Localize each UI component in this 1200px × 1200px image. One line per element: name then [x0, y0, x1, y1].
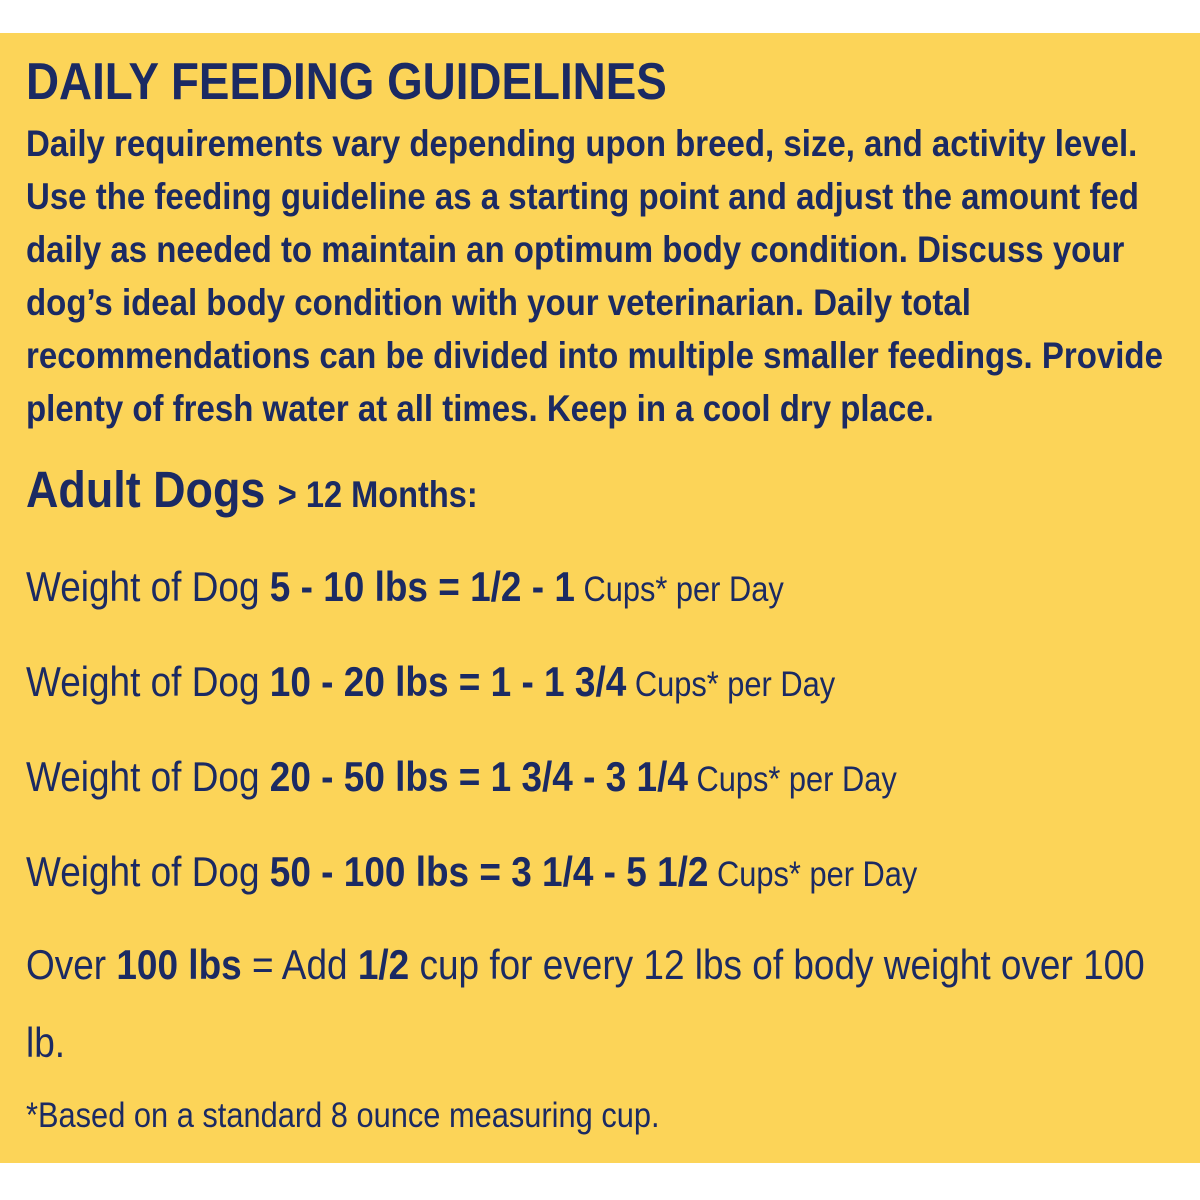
section-heading-qualifier: > 12 Months:	[278, 474, 478, 515]
feeding-row: Weight of Dog 20 - 50 lbs = 1 3/4 - 3 1/…	[26, 734, 1174, 829]
feeding-row-lead: Weight of Dog	[26, 848, 260, 895]
over-weight-rule-inner: Over 100 lbs = Add 1/2 cup for every 12 …	[26, 926, 1174, 1082]
feeding-row-amount: 5 - 10 lbs = 1/2 - 1	[270, 563, 575, 610]
feeding-row: Weight of Dog 5 - 10 lbs = 1/2 - 1 Cups*…	[26, 544, 1174, 639]
footnote-text: *Based on a standard 8 ounce measuring c…	[26, 1090, 1174, 1142]
section-heading-inner: Adult Dogs > 12 Months:	[26, 459, 1174, 534]
feeding-row-inner: Weight of Dog 50 - 100 lbs = 3 1/4 - 5 1…	[26, 829, 1174, 924]
feeding-row-lead: Weight of Dog	[26, 753, 260, 800]
feeding-guidelines-panel: DAILY FEEDING GUIDELINES Daily requireme…	[0, 33, 1200, 1163]
over-rule-prefix: Over	[26, 941, 116, 988]
feeding-row-inner: Weight of Dog 20 - 50 lbs = 1 3/4 - 3 1/…	[26, 734, 1174, 829]
feeding-row-unit: Cups* per Day	[696, 760, 896, 799]
feeding-row-lead: Weight of Dog	[26, 563, 260, 610]
feeding-row-inner: Weight of Dog 10 - 20 lbs = 1 - 1 3/4 Cu…	[26, 639, 1174, 734]
feeding-row: Weight of Dog 50 - 100 lbs = 3 1/4 - 5 1…	[26, 829, 1174, 924]
over-rule-middle: = Add	[242, 941, 358, 988]
section-heading: Adult Dogs > 12 Months:	[26, 459, 1174, 534]
feeding-row-unit: Cups* per Day	[583, 570, 783, 609]
feeding-row-lead: Weight of Dog	[26, 658, 260, 705]
intro-paragraph-text: Daily requirements vary depending upon b…	[26, 117, 1174, 435]
feeding-row-amount: 10 - 20 lbs = 1 - 1 3/4	[270, 658, 626, 705]
section-heading-main: Adult Dogs	[26, 461, 265, 518]
over-rule-weight: 100 lbs	[116, 941, 241, 988]
footnote: *Based on a standard 8 ounce measuring c…	[26, 1090, 1174, 1142]
feeding-row-inner: Weight of Dog 5 - 10 lbs = 1/2 - 1 Cups*…	[26, 544, 1174, 639]
page-title-text: DAILY FEEDING GUIDELINES	[26, 51, 1174, 113]
feeding-row-amount: 50 - 100 lbs = 3 1/4 - 5 1/2	[270, 848, 709, 895]
feeding-row-unit: Cups* per Day	[635, 665, 835, 704]
feeding-row-amount: 20 - 50 lbs = 1 3/4 - 3 1/4	[270, 753, 688, 800]
page-title: DAILY FEEDING GUIDELINES	[26, 51, 1174, 113]
over-rule-amount: 1/2	[358, 941, 409, 988]
intro-paragraph: Daily requirements vary depending upon b…	[26, 117, 1174, 435]
feeding-row: Weight of Dog 10 - 20 lbs = 1 - 1 3/4 Cu…	[26, 639, 1174, 734]
over-weight-rule: Over 100 lbs = Add 1/2 cup for every 12 …	[26, 926, 1174, 1082]
feeding-row-unit: Cups* per Day	[717, 855, 917, 894]
